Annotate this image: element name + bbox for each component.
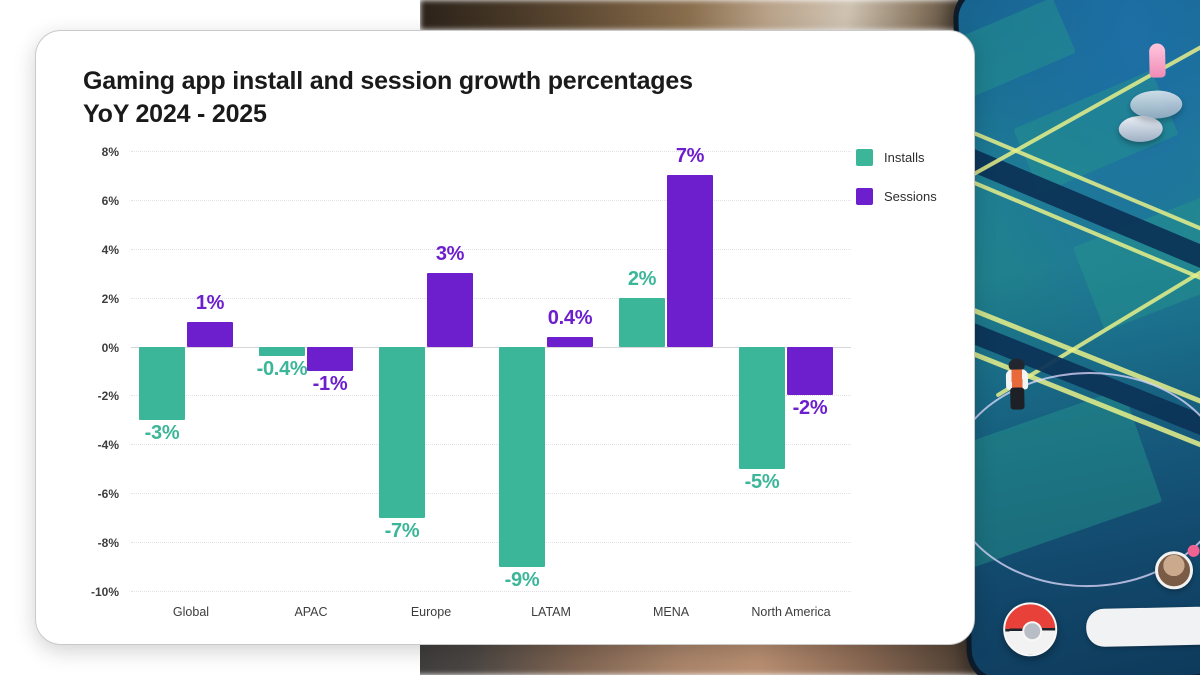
bar-value-label: -7% [385,520,420,543]
x-axis-tick-label: North America [751,605,830,619]
bar-installs-north-america[interactable]: -5% [739,151,785,591]
legend-item-installs[interactable]: Installs [856,149,937,166]
bar-rect [427,273,473,346]
bar-value-label: -1% [313,373,348,396]
x-axis-tick-label: LATAM [531,605,571,619]
character-legs [1010,387,1024,409]
bar-value-label: 2% [628,268,656,291]
y-axis-tick-label: -10% [91,585,131,599]
bar-rect [667,175,713,346]
map-player-character [1004,358,1031,411]
bar-group: -5%-2%North America [731,151,851,591]
bar-sessions-north-america[interactable]: -2% [787,151,833,591]
bar-rect [619,298,665,347]
phone-device [953,0,1200,675]
bar-value-label: 0.4% [548,307,592,330]
bottom-action-bar[interactable] [1086,606,1200,647]
bar-value-label: 3% [436,243,464,266]
bar-value-label: -9% [505,569,540,592]
bar-rect [187,322,233,346]
y-axis-tick-label: 4% [102,243,131,257]
bar-group: 2%7%MENA [611,151,731,591]
bar-rect [499,347,545,567]
gridline: -10% [131,591,851,592]
bar-value-label: 7% [676,145,704,168]
legend-label: Sessions [884,189,937,204]
bar-value-label: 1% [196,292,224,315]
bar-rect [739,347,785,469]
map-block [958,0,1076,100]
y-axis-tick-label: 0% [102,341,131,355]
page-title-line-2: YoY 2024 - 2025 [83,98,783,131]
y-axis-tick-label: -2% [98,389,131,403]
bar-sessions-apac[interactable]: -1% [307,151,353,591]
bar-rect [307,347,353,371]
profile-avatar[interactable] [1155,551,1194,590]
map-pokemon [1149,43,1166,77]
bar-rect [139,347,185,420]
bar-value-label: -5% [745,471,780,494]
bar-sessions-mena[interactable]: 7% [667,151,713,591]
bar-rect [379,347,425,518]
legend-label: Installs [884,150,924,165]
chart-legend: InstallsSessions [856,149,937,227]
bar-value-label: -0.4% [257,358,308,381]
x-axis-tick-label: Europe [411,605,451,619]
bar-chart-plot-area: 8%6%4%2%0%-2%-4%-6%-8%-10%-3%1%Global-0.… [131,151,851,591]
bar-group: -0.4%-1%APAC [251,151,371,591]
bar-rect [259,347,305,357]
chart-card: Gaming app install and session growth pe… [35,30,975,645]
bar-rect [787,347,833,396]
legend-item-sessions[interactable]: Sessions [856,188,937,205]
bar-rect [547,337,593,347]
bar-installs-mena[interactable]: 2% [619,151,665,591]
pokeball-button[interactable] [1003,602,1058,657]
y-axis-tick-label: 8% [102,145,131,159]
bar-group: -3%1%Global [131,151,251,591]
legend-swatch-icon [856,188,873,205]
y-axis-tick-label: -8% [98,536,131,550]
bar-installs-apac[interactable]: -0.4% [259,151,305,591]
map-pokestop [1130,90,1183,119]
x-axis-tick-label: MENA [653,605,689,619]
screenshot-stage: Gaming app install and session growth pe… [0,0,1200,675]
bar-installs-global[interactable]: -3% [139,151,185,591]
y-axis-tick-label: -4% [98,438,131,452]
y-axis-tick-label: 6% [102,194,131,208]
bar-value-label: -2% [793,397,828,420]
bar-value-label: -3% [145,422,180,445]
page-title-line-1: Gaming app install and session growth pe… [83,65,783,98]
bar-sessions-europe[interactable]: 3% [427,151,473,591]
bar-installs-europe[interactable]: -7% [379,151,425,591]
bar-sessions-global[interactable]: 1% [187,151,233,591]
notification-dot [1187,545,1199,557]
x-axis-tick-label: Global [173,605,209,619]
phone-screen [958,0,1200,675]
bar-sessions-latam[interactable]: 0.4% [547,151,593,591]
y-axis-tick-label: 2% [102,292,131,306]
page-title: Gaming app install and session growth pe… [83,65,783,131]
bar-group: -7%3%Europe [371,151,491,591]
legend-swatch-icon [856,149,873,166]
bar-installs-latam[interactable]: -9% [499,151,545,591]
background-blur-top [420,0,980,30]
x-axis-tick-label: APAC [294,605,327,619]
y-axis-tick-label: -6% [98,487,131,501]
bar-group: -9%0.4%LATAM [491,151,611,591]
